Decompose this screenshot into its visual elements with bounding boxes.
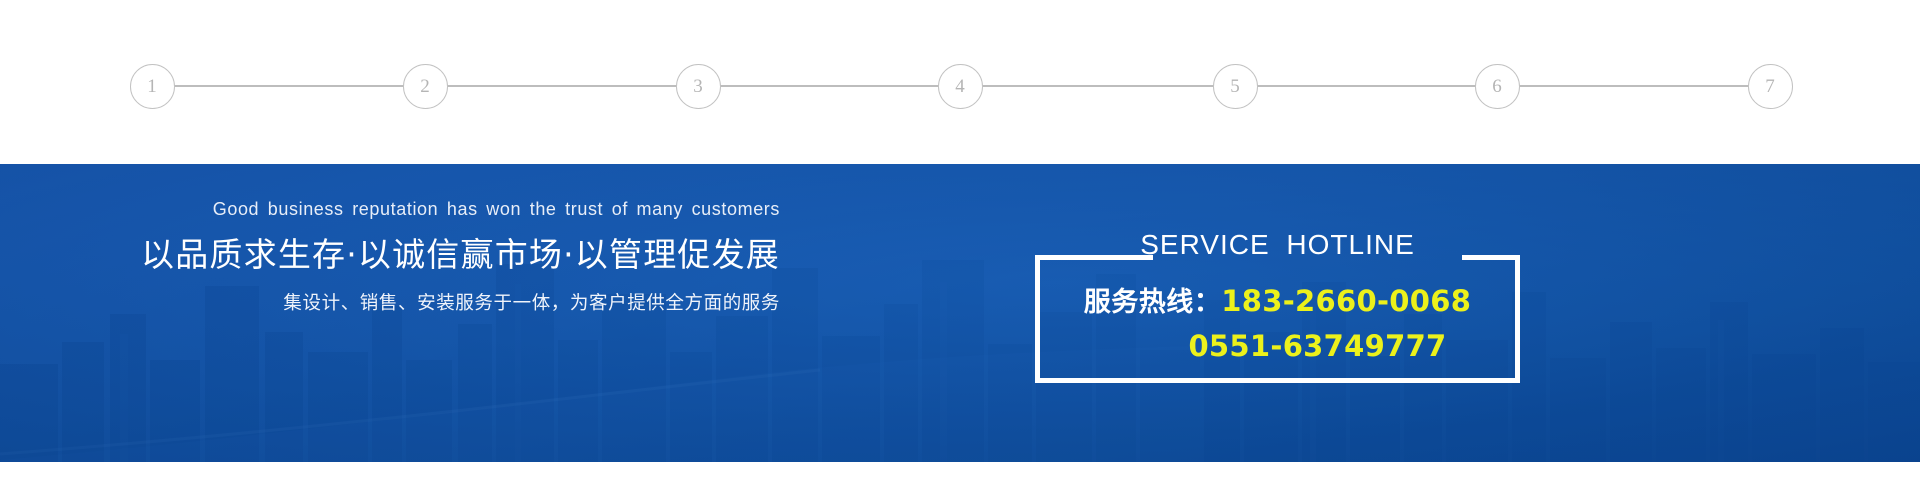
- hotline-number-secondary[interactable]: 0551-63749777: [1108, 329, 1446, 363]
- page-root: 1 2 3 4 5 6 7: [0, 0, 1920, 500]
- step-circle-3[interactable]: 3: [676, 64, 721, 109]
- step-label: 3: [693, 77, 703, 96]
- step-progress-bar: 1 2 3 4 5 6 7: [0, 0, 1920, 164]
- step-label: 6: [1492, 77, 1502, 96]
- service-hotline-box: SERVICE HOTLINE 服务热线：183-2660-0068 0551-…: [1035, 255, 1520, 383]
- blue-banner: Good business reputation has won the tru…: [0, 164, 1920, 462]
- hotline-label: 服务热线：: [1084, 287, 1222, 318]
- slogan-english: Good business reputation has won the tru…: [0, 198, 940, 221]
- step-circle-6[interactable]: 6: [1475, 64, 1520, 109]
- step-label: 2: [420, 77, 430, 96]
- step-label: 1: [147, 77, 157, 96]
- road-graphic: [0, 342, 1920, 462]
- hotline-secondary-row: 0551-63749777: [1035, 332, 1520, 361]
- step-circle-1[interactable]: 1: [130, 64, 175, 109]
- slogan-headline: 以品质求生存·以诚信赢市场·以管理促发展: [0, 229, 940, 280]
- step-circle-5[interactable]: 5: [1213, 64, 1258, 109]
- slogan-subline: 集设计、销售、安装服务于一体，为客户提供全方面的服务: [0, 291, 940, 317]
- step-label: 4: [955, 77, 965, 96]
- hotline-title: SERVICE HOTLINE: [1035, 231, 1520, 259]
- step-circle-4[interactable]: 4: [938, 64, 983, 109]
- slogan-block: Good business reputation has won the tru…: [0, 198, 940, 316]
- step-label: 7: [1765, 77, 1775, 96]
- hotline-frame: [1035, 255, 1520, 383]
- step-label: 5: [1230, 77, 1240, 96]
- step-circle-2[interactable]: 2: [403, 64, 448, 109]
- step-circle-7[interactable]: 7: [1748, 64, 1793, 109]
- hotline-primary-row: 服务热线：183-2660-0068: [1035, 287, 1520, 316]
- hotline-number-primary[interactable]: 183-2660-0068: [1221, 284, 1471, 318]
